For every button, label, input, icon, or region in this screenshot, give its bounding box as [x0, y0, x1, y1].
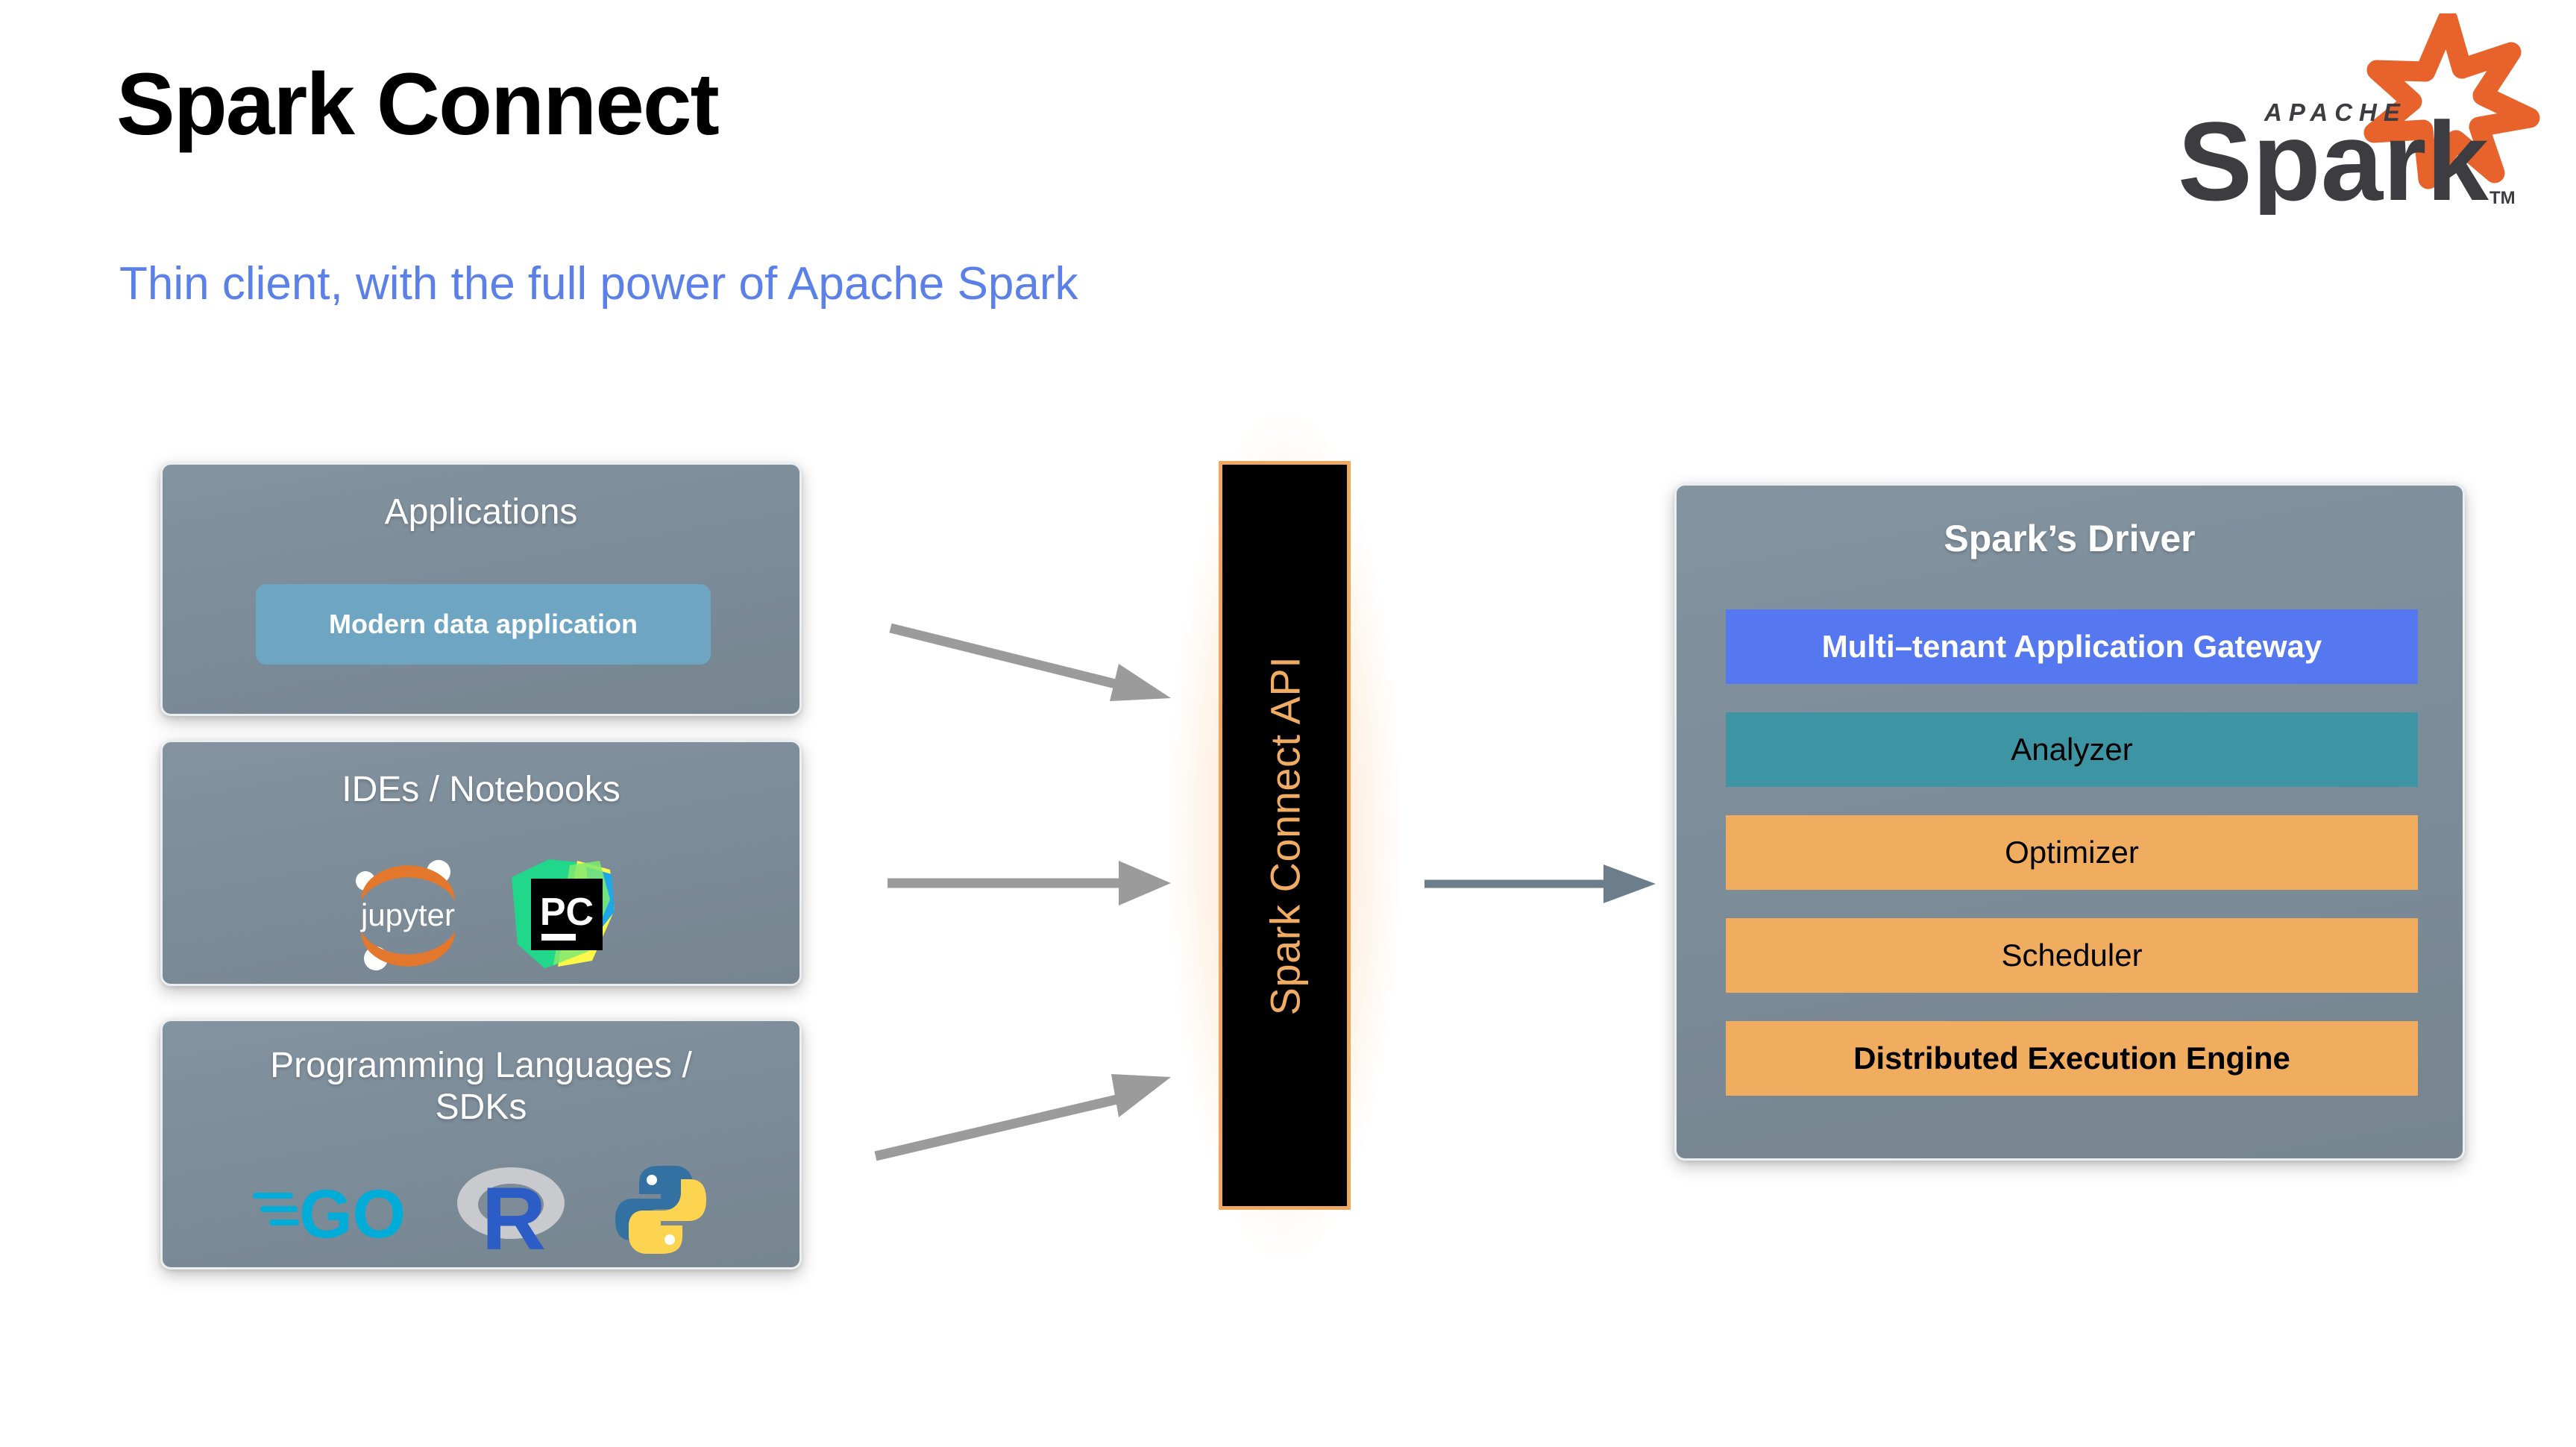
panel-ides-title: IDEs / Notebooks — [163, 769, 799, 811]
panel-langs-title: Programming Languages / SDKs — [163, 1045, 799, 1128]
arrow-api-to-driver — [1424, 861, 1656, 906]
chip-modern-data-application[interactable]: Modern data application — [256, 584, 711, 665]
panel-applications-title: Applications — [163, 492, 799, 533]
driver-stage-distributed-execution-engine[interactable]: Distributed Execution Engine — [1726, 1021, 2418, 1096]
go-wordmark: GO — [299, 1176, 406, 1251]
driver-stage-scheduler[interactable]: Scheduler — [1726, 918, 2418, 993]
panel-langs-title-line1: Programming Languages / — [163, 1045, 799, 1087]
languages-icon-row: GO R — [163, 1161, 799, 1262]
apache-spark-logo: APACHE Spark TM — [2169, 13, 2542, 215]
panel-ides-notebooks[interactable]: IDEs / Notebooks jupyter PC — [160, 740, 802, 986]
panel-spark-driver[interactable]: Spark’s Driver Multi–tenant Application … — [1674, 483, 2465, 1161]
python-logo — [612, 1161, 709, 1262]
driver-stage-multi-tenant-application-gateway[interactable]: Multi–tenant Application Gateway — [1726, 609, 2418, 684]
spark-trademark: TM — [2489, 188, 2516, 208]
page-title: Spark Connect — [116, 54, 718, 155]
go-logo: GO — [253, 1169, 409, 1255]
driver-stage-optimizer[interactable]: Optimizer — [1726, 815, 2418, 890]
panel-applications[interactable]: Applications Modern data application — [160, 462, 802, 716]
arrow-applications-to-api — [888, 612, 1171, 709]
panel-programming-languages[interactable]: Programming Languages / SDKs GO R — [160, 1019, 802, 1269]
arrow-ides-to-api — [888, 858, 1171, 910]
spark-connect-api-label: Spark Connect API — [1260, 656, 1309, 1015]
pycharm-pc-text: PC — [540, 891, 594, 934]
panel-langs-title-line2: SDKs — [163, 1087, 799, 1129]
page-subtitle: Thin client, with the full power of Apac… — [119, 257, 1078, 310]
panel-driver-title: Spark’s Driver — [1677, 517, 2463, 560]
r-letter: R — [482, 1169, 547, 1258]
arrow-languages-to-api — [873, 1067, 1171, 1171]
r-logo: R — [451, 1161, 571, 1262]
driver-stage-analyzer[interactable]: Analyzer — [1726, 712, 2418, 787]
ides-icon-row: jupyter PC — [163, 854, 799, 977]
jupyter-wordmark: jupyter — [359, 897, 455, 932]
pycharm-logo: PC — [506, 856, 618, 976]
spark-wordmark: Spark — [2178, 98, 2489, 215]
spark-connect-api-box[interactable]: Spark Connect API — [1219, 461, 1351, 1210]
jupyter-logo: jupyter — [345, 854, 471, 977]
